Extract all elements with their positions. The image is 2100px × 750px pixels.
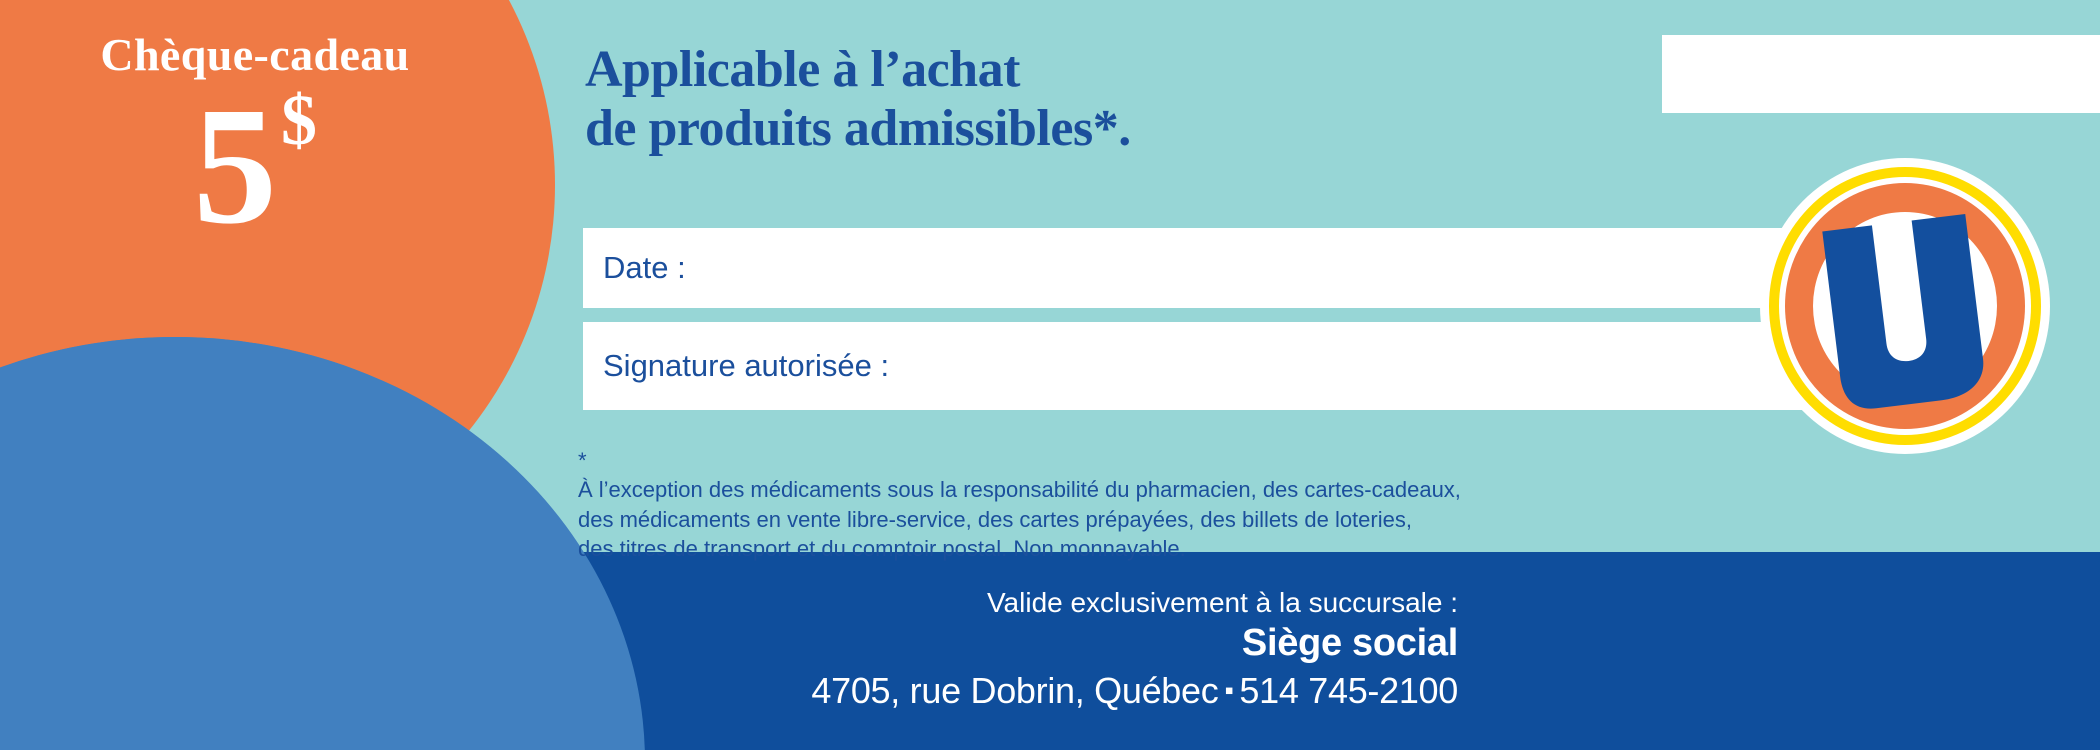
amount-value: 5 bbox=[193, 73, 273, 259]
fineprint-line-1: À l’exception des médicaments sous la re… bbox=[578, 475, 1461, 504]
branch-name: Siège social bbox=[811, 620, 1458, 668]
branch-street: 4705, rue Dobrin, Québec bbox=[811, 670, 1218, 711]
amount-display: 5$ bbox=[40, 82, 470, 250]
bullet-separator-icon: ▪ bbox=[1224, 675, 1233, 705]
branch-address-line: 4705, rue Dobrin, Québec▪514 745-2100 bbox=[811, 668, 1458, 715]
asterisk-marker: * bbox=[578, 446, 587, 475]
medium-blue-circle-overlay bbox=[0, 337, 645, 750]
headline: Applicable à l’achat de produits admissi… bbox=[585, 40, 1131, 159]
branch-info: Valide exclusivement à la succursale : S… bbox=[811, 586, 1458, 714]
fineprint-line-3: des titres de transport et du comptoir p… bbox=[578, 534, 1461, 563]
headline-line-1: Applicable à l’achat bbox=[585, 40, 1131, 99]
date-field[interactable]: Date : bbox=[583, 228, 1813, 308]
headline-line-2: de produits admissibles*. bbox=[585, 99, 1131, 158]
currency-symbol: $ bbox=[281, 80, 317, 160]
gift-voucher: Chèque-cadeau 5$ Applicable à l’achat de… bbox=[0, 0, 2100, 750]
fineprint-line-2: des médicaments en vente libre-service, … bbox=[578, 505, 1461, 534]
branch-phone: 514 745-2100 bbox=[1239, 670, 1458, 711]
signature-field-label: Signature autorisée : bbox=[603, 348, 889, 384]
fineprint: * À l’exception des médicaments sous la … bbox=[578, 446, 1461, 563]
branch-intro-label: Valide exclusivement à la succursale : bbox=[811, 586, 1458, 620]
uniprix-logo-icon bbox=[1760, 158, 2050, 454]
signature-field[interactable]: Signature autorisée : bbox=[583, 322, 1813, 410]
recipient-blank-box[interactable] bbox=[1662, 35, 2100, 113]
date-field-label: Date : bbox=[603, 250, 686, 286]
fineprint-body: À l’exception des médicaments sous la re… bbox=[578, 475, 1461, 563]
